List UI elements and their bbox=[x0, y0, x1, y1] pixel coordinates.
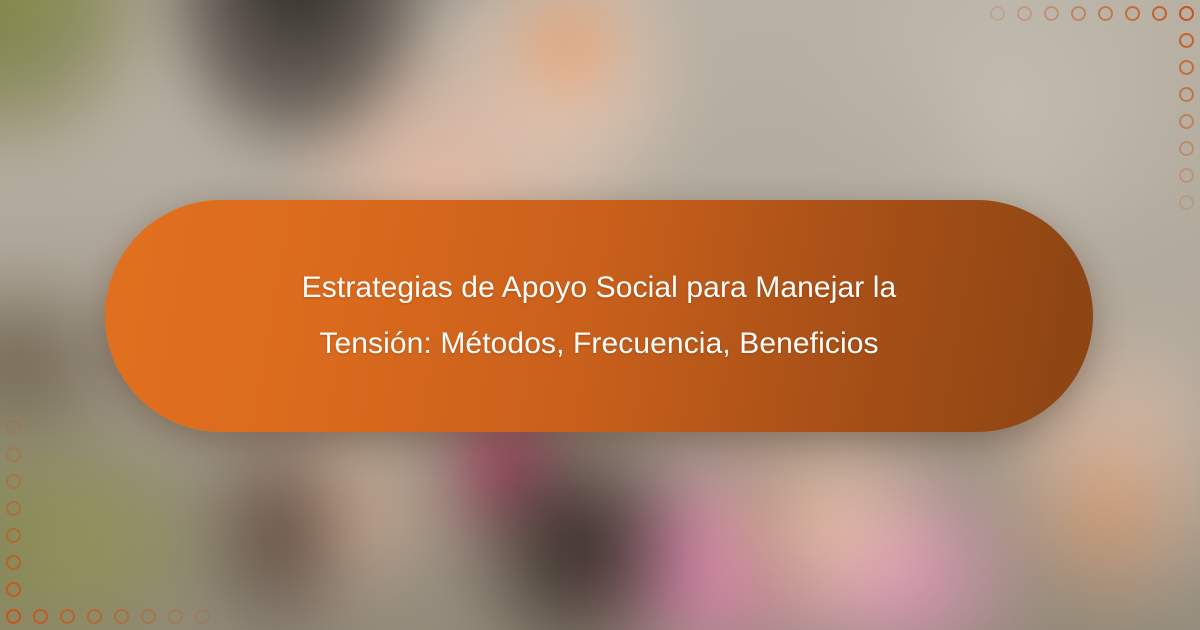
decorative-ring bbox=[1098, 6, 1113, 21]
decorative-ring bbox=[195, 609, 210, 624]
decorative-ring bbox=[6, 528, 21, 543]
decorative-ring bbox=[1179, 87, 1194, 102]
decorative-ring bbox=[33, 609, 48, 624]
decorative-ring bbox=[1071, 6, 1086, 21]
decorative-ring bbox=[6, 582, 21, 597]
decorative-ring bbox=[1179, 168, 1194, 183]
decorative-ring bbox=[1179, 195, 1194, 210]
decorative-ring bbox=[1125, 6, 1140, 21]
decorative-ring bbox=[6, 420, 21, 435]
share-card: Estrategias de Apoyo Social para Manejar… bbox=[0, 0, 1200, 630]
decorative-ring bbox=[1179, 141, 1194, 156]
decorative-ring bbox=[990, 6, 1005, 21]
decorative-ring bbox=[1179, 33, 1194, 48]
page-title: Estrategias de Apoyo Social para Manejar… bbox=[302, 260, 897, 372]
decorative-ring bbox=[1017, 6, 1032, 21]
decorative-ring bbox=[6, 609, 21, 624]
decorative-ring bbox=[168, 609, 183, 624]
decorative-ring bbox=[6, 555, 21, 570]
decorative-ring bbox=[141, 609, 156, 624]
decorative-ring bbox=[60, 609, 75, 624]
decorative-ring bbox=[6, 501, 21, 516]
decorative-ring bbox=[6, 447, 21, 462]
decorative-ring bbox=[87, 609, 102, 624]
decorative-ring bbox=[1179, 114, 1194, 129]
decorative-ring bbox=[114, 609, 129, 624]
headline-banner: Estrategias de Apoyo Social para Manejar… bbox=[105, 200, 1093, 432]
decorative-ring bbox=[1044, 6, 1059, 21]
decorative-ring bbox=[1179, 60, 1194, 75]
decorative-ring bbox=[6, 474, 21, 489]
decorative-ring bbox=[1179, 6, 1194, 21]
decorative-ring bbox=[1152, 6, 1167, 21]
